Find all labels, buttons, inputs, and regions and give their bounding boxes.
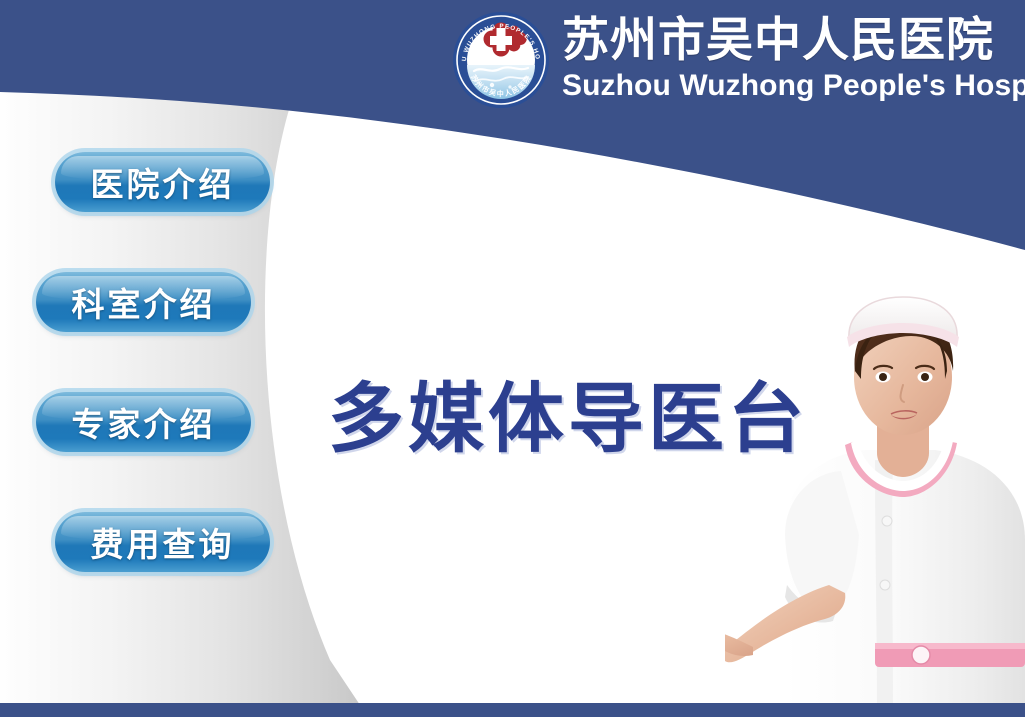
footer-bar xyxy=(0,703,1025,717)
sidebar-item-label: 医院介绍 xyxy=(91,158,235,206)
hospital-names: 苏州市吴中人民医院 Suzhou Wuzhong People's Hospit… xyxy=(562,17,1025,101)
sidebar-item-label: 专家介绍 xyxy=(72,398,216,446)
sidebar-item-label: 科室介绍 xyxy=(72,278,216,326)
page-title: 多媒体导医台 xyxy=(328,357,808,467)
hospital-name-en: Suzhou Wuzhong People's Hospital xyxy=(562,71,1025,101)
hospital-name-cn: 苏州市吴中人民医院 xyxy=(562,17,1025,64)
sidebar-item-department-intro[interactable]: 科室介绍 xyxy=(36,272,251,332)
sidebar-item-label: 费用查询 xyxy=(91,518,235,566)
header-content: SUZHOU WUZHONG PEOPLE'S HOSPITAL 苏州市吴中人民… xyxy=(452,4,1025,114)
sidebar-item-expert-intro[interactable]: 专家介绍 xyxy=(36,392,251,452)
sidebar-item-hospital-intro[interactable]: 医院介绍 xyxy=(55,152,270,212)
nurse-photo xyxy=(725,285,1025,717)
hospital-emblem-icon: SUZHOU WUZHONG PEOPLE'S HOSPITAL 苏州市吴中人民… xyxy=(452,11,550,109)
kiosk-screen: SUZHOU WUZHONG PEOPLE'S HOSPITAL 苏州市吴中人民… xyxy=(0,0,1025,717)
sidebar-item-fee-inquiry[interactable]: 费用查询 xyxy=(55,512,270,572)
sidebar-nav: 医院介绍 科室介绍 专家介绍 费用查询 xyxy=(0,0,330,717)
